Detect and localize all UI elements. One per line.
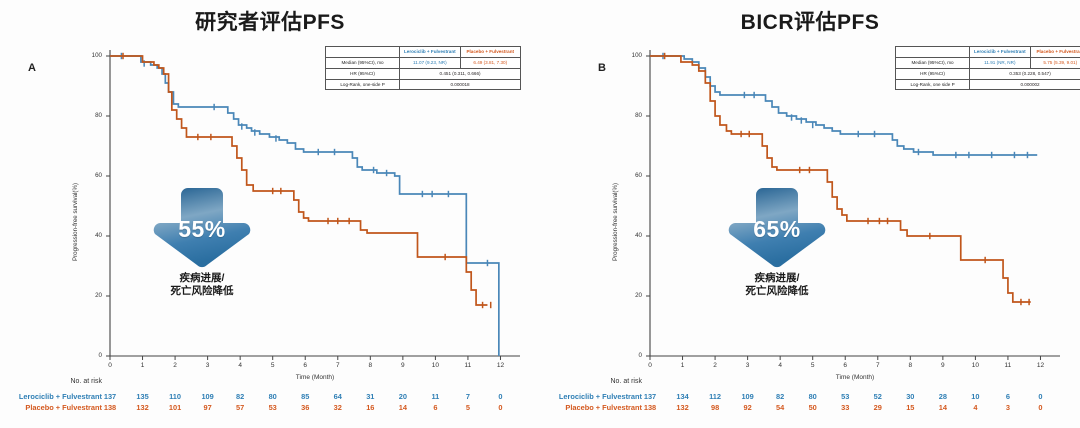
- x-tick-label: 11: [1001, 362, 1015, 369]
- risk-value: 57: [231, 403, 249, 412]
- risk-value: 0: [491, 392, 509, 401]
- x-tick-label: 1: [136, 362, 150, 369]
- table-row: Log-Rank, one-side P0.000018: [326, 79, 521, 90]
- panel-a: 研究者评估PFSA0204060801000123456789101112Tim…: [0, 0, 540, 428]
- axis-lines: [650, 50, 1060, 356]
- risk-value: 11: [426, 392, 444, 401]
- y-tick-label: 60: [626, 172, 642, 179]
- risk-value: 14: [394, 403, 412, 412]
- risk-value: 53: [836, 392, 854, 401]
- risk-row-label-arm1: Lerociclib + Fulvestrant: [0, 392, 102, 401]
- x-tick-label: 11: [461, 362, 475, 369]
- x-tick-label: 0: [643, 362, 657, 369]
- risk-value: 0: [1031, 392, 1049, 401]
- table-row-value: 0.353 (0.228, 0.547): [970, 68, 1080, 79]
- caption-line-1: 疾病进展/: [722, 272, 832, 285]
- x-axis-label: Time (Month): [275, 374, 355, 381]
- x-tick-label: 10: [968, 362, 982, 369]
- down-arrow-icon: 65%: [722, 186, 832, 270]
- risk-value: 85: [296, 392, 314, 401]
- results-table: Lerociclib + FulvestrantPlacebo + Fulves…: [895, 46, 1080, 90]
- table-row: Log-Rank, one side P0.000002: [896, 79, 1080, 90]
- x-tick-label: 12: [493, 362, 507, 369]
- table-row-label: Log-Rank, one side P: [896, 79, 970, 90]
- risk-reduction-percent: 65%: [722, 216, 832, 243]
- x-tick-label: 12: [1033, 362, 1047, 369]
- x-tick-label: 4: [773, 362, 787, 369]
- risk-value: 132: [674, 403, 692, 412]
- risk-value: 7: [459, 392, 477, 401]
- no-at-risk-title: No. at risk: [0, 378, 102, 385]
- risk-value: 132: [134, 403, 152, 412]
- risk-value: 64: [329, 392, 347, 401]
- x-tick-label: 6: [838, 362, 852, 369]
- risk-value: 135: [134, 392, 152, 401]
- risk-value: 28: [934, 392, 952, 401]
- risk-value: 0: [1031, 403, 1049, 412]
- risk-value: 10: [966, 392, 984, 401]
- risk-value: 4: [966, 403, 984, 412]
- risk-value: 82: [231, 392, 249, 401]
- risk-value: 110: [166, 392, 184, 401]
- x-tick-label: 2: [168, 362, 182, 369]
- risk-value: 137: [101, 392, 119, 401]
- table-row: HR (95%CI)0.451 (0.311, 0.666): [326, 68, 521, 79]
- y-tick-label: 20: [86, 292, 102, 299]
- x-tick-label: 3: [201, 362, 215, 369]
- risk-row-label-arm1: Lerociclib + Fulvestrant: [532, 392, 642, 401]
- table-header-arm1: Lerociclib + Fulvestrant: [400, 47, 460, 58]
- x-tick-label: 0: [103, 362, 117, 369]
- y-tick-label: 100: [626, 52, 642, 59]
- y-tick-label: 20: [626, 292, 642, 299]
- risk-value: 14: [934, 403, 952, 412]
- risk-row-label-arm2: Placebo + Fulvestrant: [0, 403, 102, 412]
- risk-reduction-callout: 55%疾病进展/死亡风险降低: [147, 186, 257, 298]
- table-row-label: HR (95%CI): [896, 68, 970, 79]
- no-at-risk-title: No. at risk: [532, 378, 642, 385]
- y-tick-label: 80: [626, 112, 642, 119]
- risk-value: 138: [101, 403, 119, 412]
- risk-value: 30: [901, 392, 919, 401]
- table-row-label: Median (95%CI), mo: [896, 58, 970, 69]
- risk-value: 52: [869, 392, 887, 401]
- risk-value: 97: [199, 403, 217, 412]
- x-tick-label: 2: [708, 362, 722, 369]
- risk-value: 15: [901, 403, 919, 412]
- risk-value: 138: [641, 403, 659, 412]
- risk-value: 29: [869, 403, 887, 412]
- y-tick-label: 0: [626, 352, 642, 359]
- risk-value: 80: [804, 392, 822, 401]
- x-tick-label: 8: [363, 362, 377, 369]
- risk-value: 109: [739, 392, 757, 401]
- x-tick-label: 7: [871, 362, 885, 369]
- risk-reduction-callout: 65%疾病进展/死亡风险降低: [722, 186, 832, 298]
- results-table: Lerociclib + FulvestrantPlacebo + Fulves…: [325, 46, 521, 90]
- risk-value: 53: [264, 403, 282, 412]
- y-tick-label: 40: [86, 232, 102, 239]
- risk-value: 31: [361, 392, 379, 401]
- panel-b: BICR评估PFSB0204060801000123456789101112Ti…: [540, 0, 1080, 428]
- risk-value: 16: [361, 403, 379, 412]
- y-tick-label: 80: [86, 112, 102, 119]
- table-row-value-arm1: 11.07 (9.23, NR): [400, 58, 460, 69]
- caption-line-2: 死亡风险降低: [722, 285, 832, 298]
- table-row-label: Median (95%CI), mo: [326, 58, 400, 69]
- risk-value: 98: [706, 403, 724, 412]
- table-header-arm2: Placebo + Fulvestrant: [460, 47, 520, 58]
- km-curve-placebo: [650, 56, 1031, 302]
- risk-value: 82: [771, 392, 789, 401]
- caption-line-1: 疾病进展/: [147, 272, 257, 285]
- y-tick-label: 0: [86, 352, 102, 359]
- table-row: Median (95%CI), mo11.07 (9.23, NR)6.49 (…: [326, 58, 521, 69]
- table-header-row: Lerociclib + FulvestrantPlacebo + Fulves…: [896, 47, 1080, 58]
- risk-value: 101: [166, 403, 184, 412]
- risk-value: 6: [999, 392, 1017, 401]
- risk-value: 109: [199, 392, 217, 401]
- risk-value: 36: [296, 403, 314, 412]
- table-row-value: 0.000018: [400, 79, 521, 90]
- down-arrow-icon: 55%: [147, 186, 257, 270]
- x-tick-label: 5: [806, 362, 820, 369]
- risk-value: 54: [771, 403, 789, 412]
- x-tick-label: 7: [331, 362, 345, 369]
- x-tick-label: 8: [903, 362, 917, 369]
- table-row-label: Log-Rank, one-side P: [326, 79, 400, 90]
- risk-value: 3: [999, 403, 1017, 412]
- x-tick-label: 3: [741, 362, 755, 369]
- risk-value: 92: [739, 403, 757, 412]
- table-row-value-arm2: 6.49 (3.81, 7.30): [460, 58, 520, 69]
- risk-reduction-caption: 疾病进展/死亡风险降低: [147, 272, 257, 298]
- x-tick-label: 5: [266, 362, 280, 369]
- table-header-arm1: Lerociclib + Fulvestrant: [970, 47, 1030, 58]
- table-row-label: HR (95%CI): [326, 68, 400, 79]
- risk-value: 112: [706, 392, 724, 401]
- table-row: Median (95%CI), mo11.91 (NR, NR)5.75 (5.…: [896, 58, 1080, 69]
- x-tick-label: 9: [396, 362, 410, 369]
- risk-value: 0: [491, 403, 509, 412]
- risk-value: 137: [641, 392, 659, 401]
- table-header-arm2: Placebo + Fulvestrant: [1030, 47, 1080, 58]
- table-row-value-arm2: 5.75 (5.39, 9.01): [1030, 58, 1080, 69]
- x-tick-label: 1: [676, 362, 690, 369]
- table-row-value: 0.000002: [970, 79, 1080, 90]
- risk-value: 5: [459, 403, 477, 412]
- y-tick-label: 60: [86, 172, 102, 179]
- x-axis-label: Time (Month): [815, 374, 895, 381]
- table-row: HR (95%CI)0.353 (0.228, 0.547): [896, 68, 1080, 79]
- risk-reduction-caption: 疾病进展/死亡风险降低: [722, 272, 832, 298]
- risk-value: 80: [264, 392, 282, 401]
- risk-reduction-percent: 55%: [147, 216, 257, 243]
- y-tick-label: 100: [86, 52, 102, 59]
- x-tick-label: 9: [936, 362, 950, 369]
- risk-value: 32: [329, 403, 347, 412]
- table-row-value: 0.451 (0.311, 0.666): [400, 68, 521, 79]
- y-axis-label: Progression-free survival(%): [72, 183, 79, 261]
- table-corner-cell: [896, 47, 970, 58]
- x-tick-label: 6: [298, 362, 312, 369]
- risk-value: 33: [836, 403, 854, 412]
- risk-value: 20: [394, 392, 412, 401]
- risk-value: 6: [426, 403, 444, 412]
- caption-line-2: 死亡风险降低: [147, 285, 257, 298]
- risk-value: 50: [804, 403, 822, 412]
- x-tick-label: 10: [428, 362, 442, 369]
- risk-value: 134: [674, 392, 692, 401]
- y-tick-label: 40: [626, 232, 642, 239]
- table-row-value-arm1: 11.91 (NR, NR): [970, 58, 1030, 69]
- table-corner-cell: [326, 47, 400, 58]
- y-axis-label: Progression-free survival(%): [612, 183, 619, 261]
- table-header-row: Lerociclib + FulvestrantPlacebo + Fulves…: [326, 47, 521, 58]
- x-tick-label: 4: [233, 362, 247, 369]
- risk-row-label-arm2: Placebo + Fulvestrant: [532, 403, 642, 412]
